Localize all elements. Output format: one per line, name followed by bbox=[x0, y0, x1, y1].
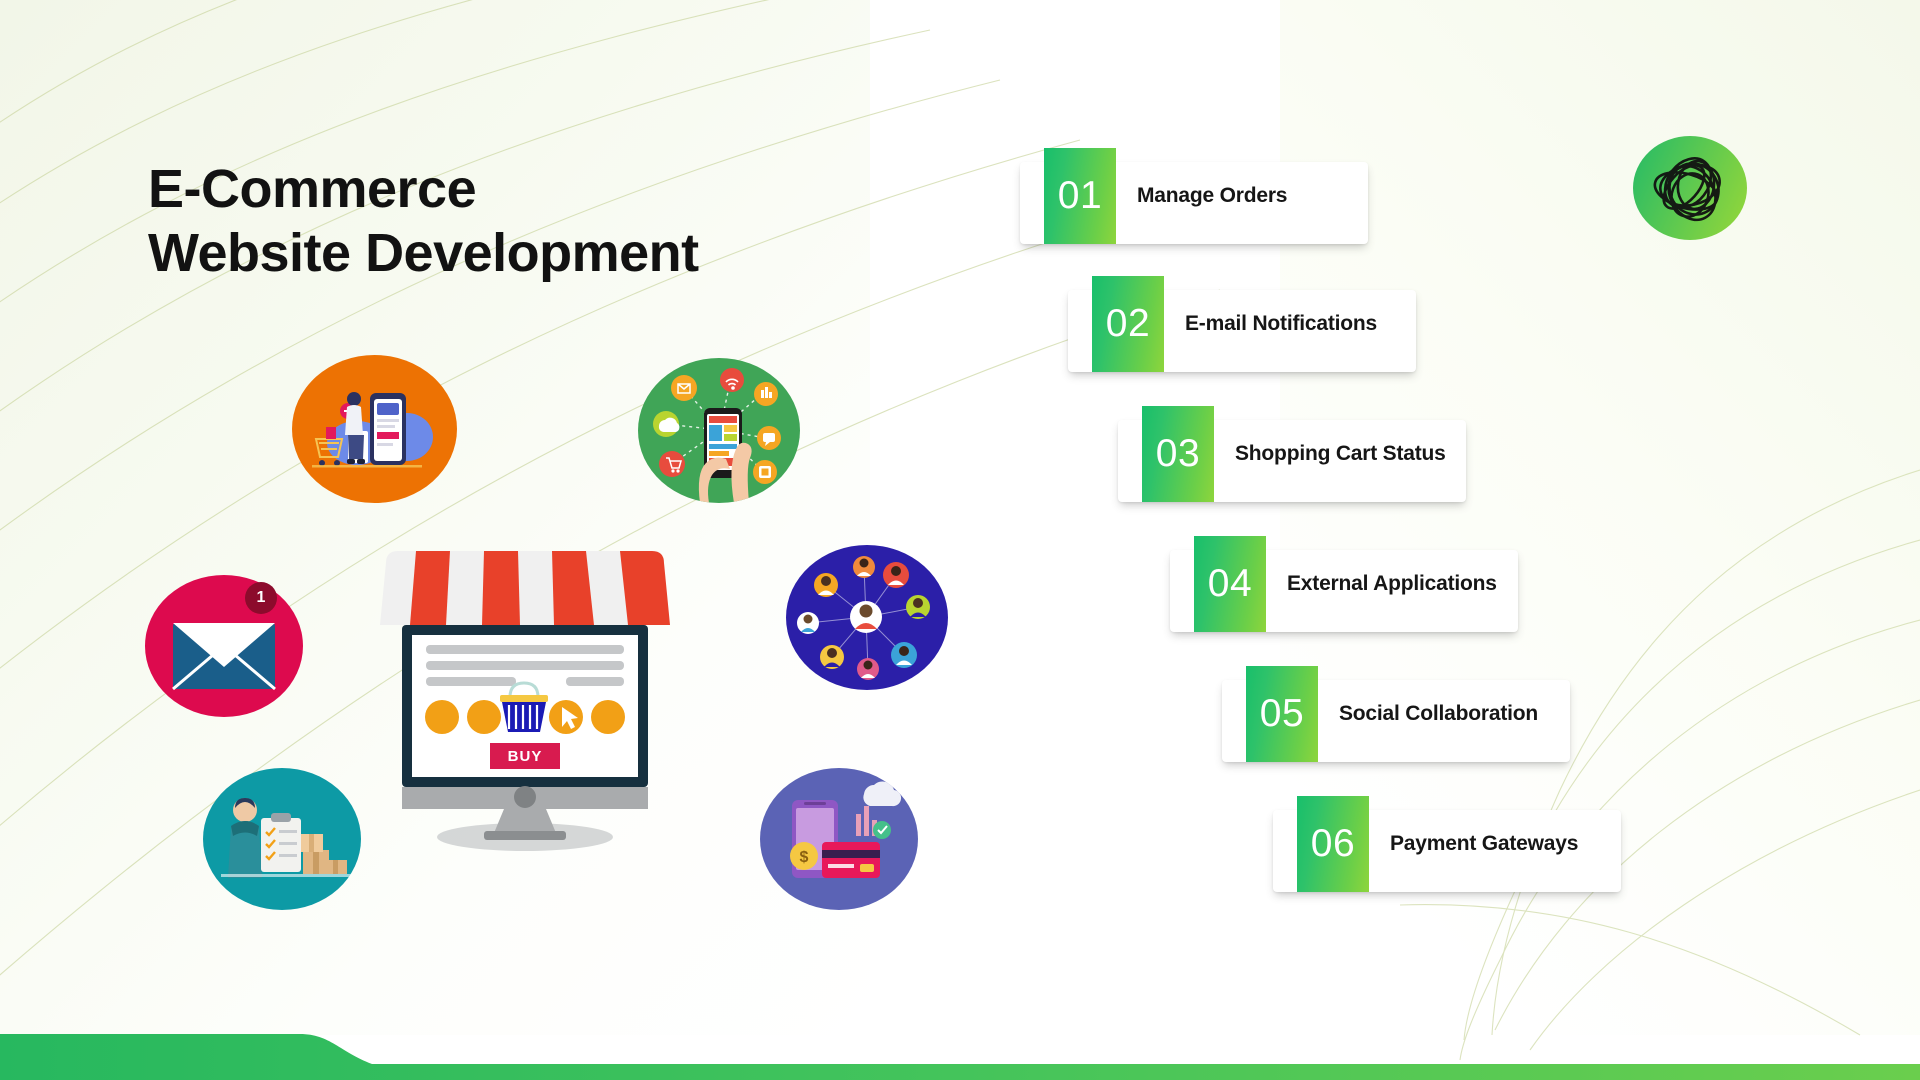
feature-label: Payment Gateways bbox=[1390, 796, 1578, 892]
online-store-illustration: BUY bbox=[380, 545, 670, 855]
bottom-accent-bar bbox=[0, 1020, 1920, 1080]
shopping-person-icon bbox=[292, 355, 457, 503]
feature-item-04[interactable]: 04 External Applications bbox=[1170, 536, 1518, 632]
online-shopping-illustration bbox=[292, 355, 457, 503]
clipboard-boxes-icon bbox=[203, 768, 361, 910]
social-network-illustration bbox=[786, 545, 948, 690]
smartphone-hand-icon bbox=[638, 358, 800, 503]
mobile-connectivity-illustration bbox=[638, 358, 800, 503]
feature-number: 06 bbox=[1297, 796, 1369, 892]
feature-label: Manage Orders bbox=[1137, 148, 1287, 244]
feature-label: E-mail Notifications bbox=[1185, 276, 1377, 372]
email-badge-count: 1 bbox=[245, 582, 277, 614]
feature-number: 02 bbox=[1092, 276, 1164, 372]
feature-number: 03 bbox=[1142, 406, 1214, 502]
feature-item-06[interactable]: 06 Payment Gateways bbox=[1273, 796, 1621, 892]
mobile-payment-icon: $ bbox=[760, 768, 918, 910]
feature-item-01[interactable]: 01 Manage Orders bbox=[1020, 148, 1368, 244]
email-notification-illustration bbox=[145, 575, 303, 717]
feature-label: Shopping Cart Status bbox=[1235, 406, 1446, 502]
feature-list: 01 Manage Orders 02 E-mail Notifications… bbox=[1020, 148, 1660, 938]
envelope-icon bbox=[145, 575, 303, 717]
inventory-checklist-illustration bbox=[203, 768, 361, 910]
svg-text:$: $ bbox=[800, 849, 809, 866]
illustration-cluster: 1 bbox=[0, 0, 900, 1000]
svg-text:BUY: BUY bbox=[508, 748, 543, 765]
feature-item-03[interactable]: 03 Shopping Cart Status bbox=[1118, 406, 1466, 502]
feature-number: 04 bbox=[1194, 536, 1266, 632]
feature-number: 01 bbox=[1044, 148, 1116, 244]
feature-item-05[interactable]: 05 Social Collaboration bbox=[1222, 666, 1570, 762]
feature-number: 05 bbox=[1246, 666, 1318, 762]
slide-canvas: E-Commerce Website Development bbox=[0, 0, 1920, 1080]
people-network-icon bbox=[786, 545, 948, 690]
feature-label: External Applications bbox=[1287, 536, 1497, 632]
feature-label: Social Collaboration bbox=[1339, 666, 1538, 762]
feature-item-02[interactable]: 02 E-mail Notifications bbox=[1068, 276, 1416, 372]
payment-security-illustration: $ bbox=[760, 768, 918, 910]
